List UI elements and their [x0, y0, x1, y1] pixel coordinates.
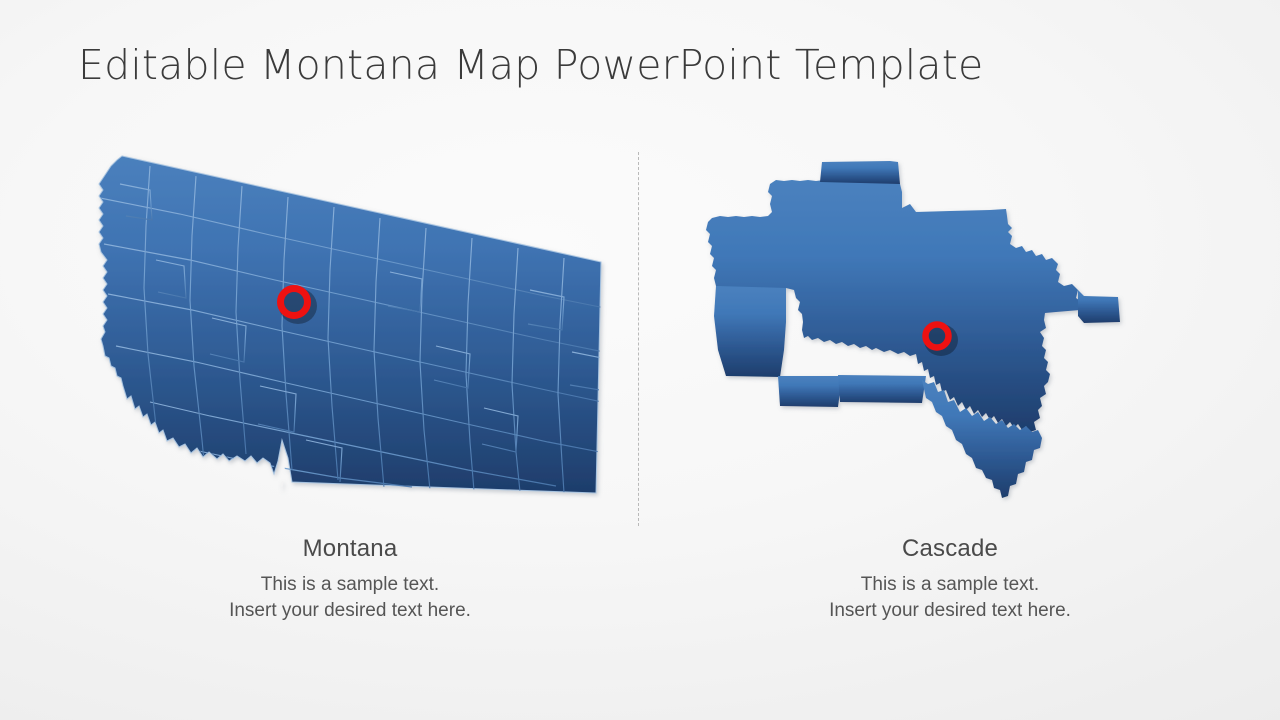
- cascade-east-nub: [1078, 290, 1120, 323]
- cascade-location-marker[interactable]: [924, 324, 958, 356]
- cascade-north-bump: [820, 161, 900, 184]
- cascade-caption-line1: This is a sample text.: [660, 572, 1240, 598]
- montana-south-notch: [281, 481, 283, 492]
- panel-montana: Montana This is a sample text. Insert yo…: [60, 140, 640, 640]
- montana-location-marker[interactable]: [279, 288, 317, 324]
- cascade-caption-body: This is a sample text. Insert your desir…: [660, 572, 1240, 623]
- slide-canvas: Editable Montana Map PowerPoint Template: [0, 0, 1280, 720]
- montana-outline: [99, 156, 601, 493]
- page-title: Editable Montana Map PowerPoint Template: [78, 41, 983, 89]
- montana-caption-line2: Insert your desired text here.: [60, 598, 640, 624]
- cascade-south-shelf: [838, 375, 926, 403]
- cascade-caption: Cascade This is a sample text. Insert yo…: [660, 536, 1240, 624]
- cascade-west-lobe: [714, 286, 786, 377]
- montana-state-map[interactable]: [60, 140, 640, 520]
- montana-caption-line1: This is a sample text.: [60, 572, 640, 598]
- cascade-county-body: [706, 161, 1120, 498]
- cascade-caption-title: Cascade: [660, 536, 1240, 562]
- montana-map-stage: [60, 140, 640, 520]
- cascade-county-map[interactable]: [660, 140, 1240, 520]
- montana-caption: Montana This is a sample text. Insert yo…: [60, 536, 640, 624]
- cascade-caption-line2: Insert your desired text here.: [660, 598, 1240, 624]
- montana-caption-body: This is a sample text. Insert your desir…: [60, 572, 640, 623]
- montana-state-body: [99, 156, 605, 493]
- cascade-map-stage: [660, 140, 1240, 520]
- cascade-south-foot: [778, 376, 842, 407]
- panel-cascade: Cascade This is a sample text. Insert yo…: [660, 140, 1240, 640]
- montana-caption-title: Montana: [60, 536, 640, 562]
